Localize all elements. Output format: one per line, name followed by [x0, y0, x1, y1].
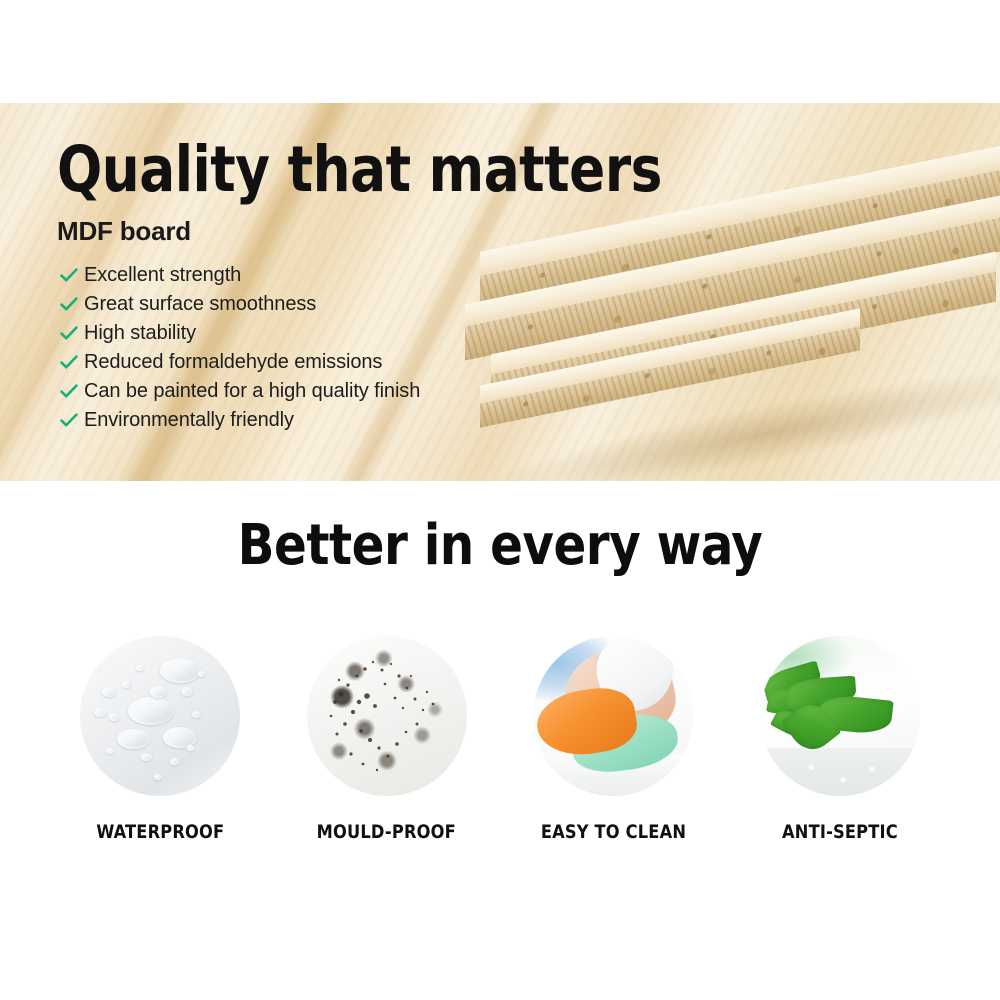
droplet — [141, 753, 152, 761]
feature-label: MOULD-PROOF — [317, 821, 456, 843]
droplet — [187, 745, 195, 751]
droplet — [154, 774, 162, 780]
list-item-label: High stability — [84, 322, 196, 345]
list-item: Can be painted for a high quality finish — [60, 377, 420, 406]
droplet — [136, 665, 144, 671]
benefits-section: Better in every way — [0, 481, 1000, 1000]
check-icon — [60, 268, 84, 283]
check-icon — [60, 384, 84, 399]
check-icon — [60, 413, 84, 428]
droplet — [109, 713, 119, 721]
feature-anti-septic: ANTI-SEPTIC — [740, 636, 940, 843]
list-item: Environmentally friendly — [60, 406, 420, 435]
green-leaves-icon — [760, 636, 920, 796]
feature-bullet-list: Excellent strength Great surface smoothn… — [60, 261, 420, 435]
list-item: Excellent strength — [60, 261, 420, 290]
dew-surface — [760, 748, 920, 796]
droplet — [106, 748, 114, 754]
gloved-hand-wiping-cloth-icon — [533, 636, 693, 796]
droplet — [170, 758, 179, 765]
droplet — [117, 729, 150, 749]
list-item-label: Environmentally friendly — [84, 409, 294, 432]
feature-circle-row: WATERPROOF — [60, 636, 940, 843]
droplet — [181, 687, 193, 696]
feature-label: ANTI-SEPTIC — [782, 821, 898, 843]
list-item: High stability — [60, 319, 420, 348]
feature-label: WATERPROOF — [96, 821, 224, 843]
feature-waterproof: WATERPROOF — [60, 636, 260, 843]
check-icon — [60, 297, 84, 312]
hero-subtitle: MDF board — [57, 216, 191, 247]
list-item-label: Great surface smoothness — [84, 293, 316, 316]
droplet — [150, 686, 167, 698]
feature-label: EASY TO CLEAN — [541, 821, 686, 843]
hero-text-block: Quality that matters MDF board Excellent… — [0, 103, 1000, 481]
cleaning-scene — [533, 636, 693, 796]
list-item-label: Reduced formaldehyde emissions — [84, 351, 382, 374]
leaf-scene — [760, 636, 920, 796]
list-item: Great surface smoothness — [60, 290, 420, 319]
list-item-label: Excellent strength — [84, 264, 241, 287]
droplet — [128, 697, 174, 725]
mould-speckle-overlay — [307, 636, 467, 796]
feature-mould-proof: MOULD-PROOF — [287, 636, 487, 843]
section-title: Better in every way — [20, 518, 980, 574]
list-item: Reduced formaldehyde emissions — [60, 348, 420, 377]
mould-spots-icon — [307, 636, 467, 796]
droplet — [122, 681, 131, 688]
feature-easy-to-clean: EASY TO CLEAN — [513, 636, 713, 843]
check-icon — [60, 326, 84, 341]
list-item-label: Can be painted for a high quality finish — [84, 380, 420, 403]
page-title: Quality that matters — [57, 138, 662, 201]
water-droplets-icon — [80, 636, 240, 796]
product-feature-banner: Quality that matters MDF board Excellent… — [0, 0, 1000, 1000]
check-icon — [60, 355, 84, 370]
